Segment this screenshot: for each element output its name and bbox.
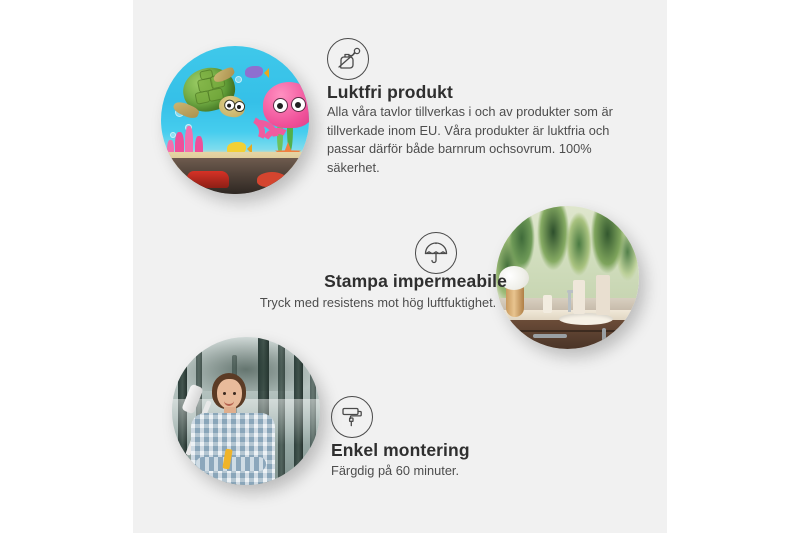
feature-body: Alla våra tavlor tillverkas i och av pro… [327, 103, 627, 177]
feature-body: Färgdig på 60 minuter. [331, 462, 591, 481]
feature-image-painter [172, 337, 320, 485]
feature-title: Stampa impermeabile [298, 271, 533, 292]
no-fragrance-icon [327, 38, 369, 80]
promo-graphic: Luktfri produkt Alla våra tavlor tillver… [0, 0, 800, 533]
feature-title: Luktfri produkt [327, 82, 453, 103]
feature-image-underwater [161, 46, 309, 194]
feature-title: Enkel montering [331, 440, 470, 461]
underwater-illustration [161, 46, 309, 194]
painter-illustration [172, 337, 320, 485]
feature-body: Tryck med resistens mot hög luftfuktighe… [223, 294, 533, 313]
umbrella-icon [415, 232, 457, 274]
content-panel: Luktfri produkt Alla våra tavlor tillver… [133, 0, 667, 533]
paint-roller-icon [331, 396, 373, 438]
